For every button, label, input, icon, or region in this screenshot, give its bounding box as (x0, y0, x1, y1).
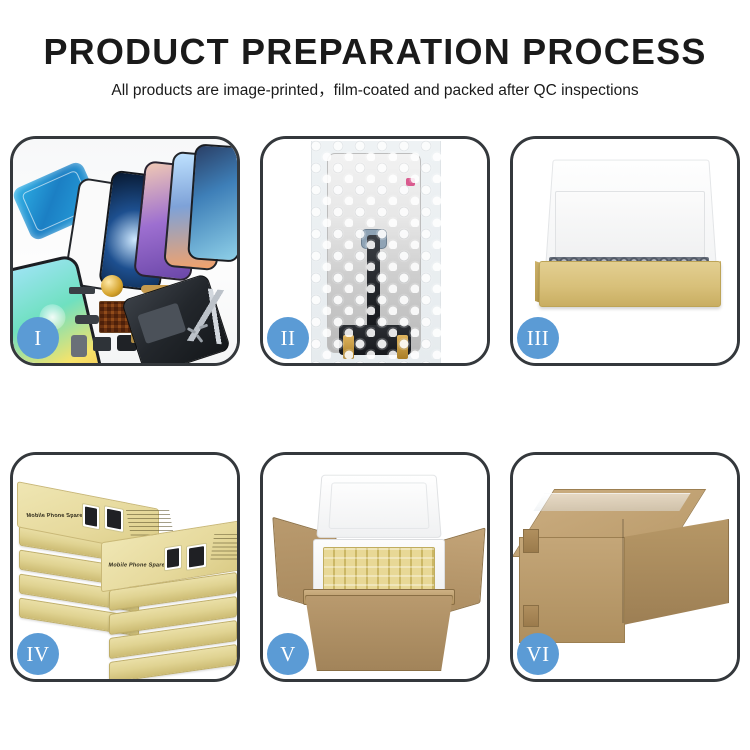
step-panel-1[interactable]: I (10, 136, 240, 366)
spare-part (93, 337, 111, 351)
tape-tab-upper (523, 529, 539, 553)
box-phone-photo (82, 503, 100, 530)
spare-part (71, 335, 87, 357)
foam-box-lid (316, 475, 441, 538)
bubble-highlight-layer (309, 139, 441, 363)
step-badge-6: VI (517, 633, 559, 675)
step-badge-1: I (17, 317, 59, 359)
spare-part (69, 287, 95, 294)
step-badge-4: IV (17, 633, 59, 675)
step-badge-2: II (267, 317, 309, 359)
step-badge-5: V (267, 633, 309, 675)
box-checklist (210, 534, 237, 560)
page-title: PRODUCT PREPARATION PROCESS (0, 30, 750, 74)
step-panel-2[interactable]: II (260, 136, 490, 366)
packing-tape (533, 493, 690, 511)
step-panel-6[interactable]: VI (510, 452, 740, 682)
step-badge-3: III (517, 317, 559, 359)
screws-group (187, 325, 219, 345)
box-phone-photo (186, 543, 207, 571)
page-subtitle: All products are image-printed，film-coat… (0, 80, 750, 102)
tape-tab-lower (523, 605, 539, 627)
speaker-coil-part (101, 275, 123, 297)
carton-side-face (623, 519, 729, 625)
kraft-tray (539, 261, 721, 307)
step-panel-3[interactable]: III (510, 136, 740, 366)
carton-body (305, 595, 453, 671)
header: PRODUCT PREPARATION PROCESS All products… (0, 0, 750, 102)
steps-grid: I II (10, 136, 740, 688)
product-preparation-infographic: PRODUCT PREPARATION PROCESS All products… (0, 0, 750, 750)
box-phone-photo (164, 545, 182, 572)
carton-edge (622, 519, 624, 623)
step-panel-4[interactable]: Mobile Phone Spare Parts Mobile Phone Sp… (10, 452, 240, 682)
step-panel-5[interactable]: V (260, 452, 490, 682)
spare-part (75, 315, 99, 324)
box-phone-photo (104, 505, 124, 533)
phone-screen-blue (187, 143, 237, 262)
